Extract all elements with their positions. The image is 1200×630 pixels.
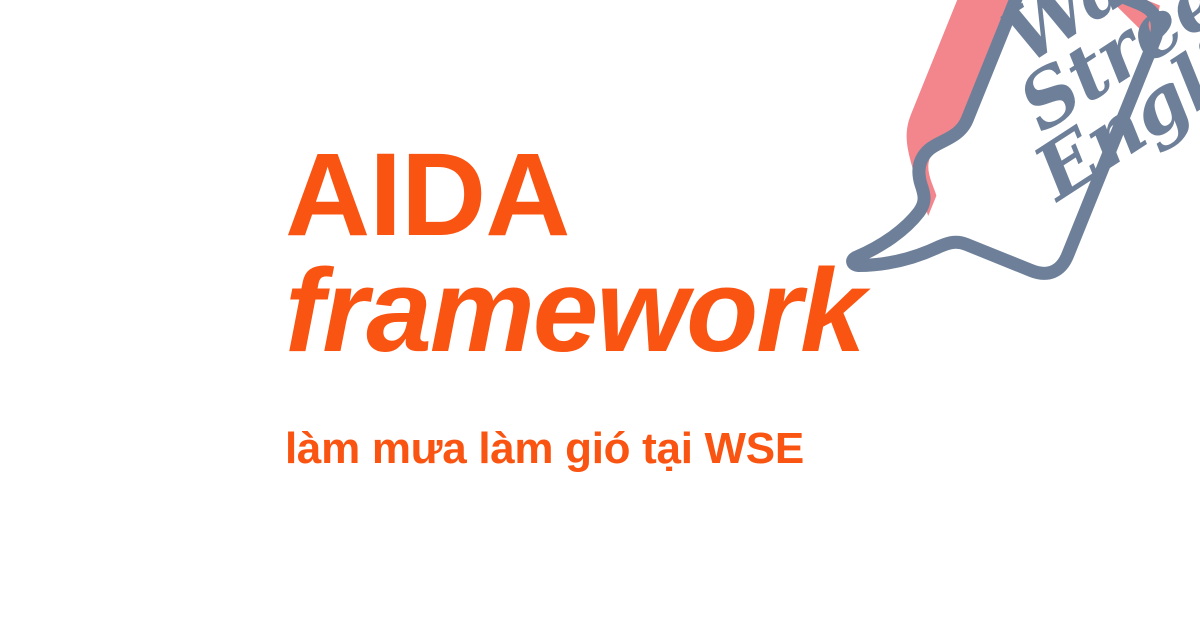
logo-script-stack: Wall Street English [986, 0, 1200, 186]
page-subtitle: làm mưa làm gió tại WSE [285, 425, 925, 473]
logo-script-wordmark: Wall Street English [986, 22, 1200, 332]
page-title-line-2: framework [285, 254, 925, 368]
page-title-line-1: AIDA [285, 138, 925, 252]
headline-block: AIDA framework làm mưa làm gió tại WSE [285, 138, 925, 473]
poster-canvas: AIDA framework làm mưa làm gió tại WSE W… [0, 0, 1200, 630]
